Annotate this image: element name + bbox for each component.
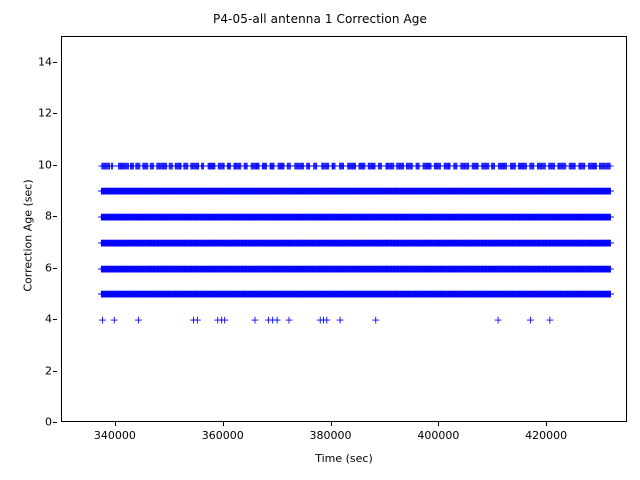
y-tick-mark (53, 113, 57, 114)
y-axis-label: Correction Age (sec) (22, 116, 35, 356)
data-point-marker: + (493, 315, 502, 326)
chart-figure: P4-05-all antenna 1 Correction Age +++++… (0, 0, 640, 480)
data-point-marker: + (134, 315, 143, 326)
x-tick-mark (115, 422, 116, 426)
y-tick-label: 14 (38, 55, 52, 68)
data-point-marker: + (606, 263, 615, 274)
y-tick-label: 8 (45, 210, 52, 223)
y-tick-mark (53, 422, 57, 423)
scatter-data-layer: ++++++++++++++++++++++++++++++++++++++++… (62, 37, 626, 421)
y-tick-mark (53, 371, 57, 372)
y-tick-mark (53, 165, 57, 166)
x-tick-mark (546, 422, 547, 426)
data-point-marker: + (272, 315, 281, 326)
x-tick-label: 420000 (525, 429, 567, 442)
data-point-marker: + (110, 315, 119, 326)
data-point-marker: + (606, 212, 615, 223)
chart-title: P4-05-all antenna 1 Correction Age (0, 12, 640, 26)
data-point-marker: + (220, 315, 229, 326)
plot-area: ++++++++++++++++++++++++++++++++++++++++… (61, 36, 627, 422)
data-point-marker: + (193, 315, 202, 326)
data-point-marker: + (606, 237, 615, 248)
y-tick-mark (53, 268, 57, 269)
y-tick-label: 10 (38, 158, 52, 171)
x-tick-mark (331, 422, 332, 426)
x-axis-label: Time (sec) (61, 452, 627, 465)
data-point-marker: + (606, 289, 615, 300)
y-tick-label: 0 (45, 416, 52, 429)
x-tick-label: 380000 (310, 429, 352, 442)
y-tick-label: 4 (45, 313, 52, 326)
y-tick-mark (53, 319, 57, 320)
data-point-marker: + (605, 160, 614, 171)
data-point-marker: + (284, 315, 293, 326)
y-tick-label: 2 (45, 364, 52, 377)
x-tick-mark (223, 422, 224, 426)
data-point-marker: + (322, 315, 331, 326)
data-point-marker: + (606, 186, 615, 197)
data-point-marker: + (526, 315, 535, 326)
data-point-marker: + (371, 315, 380, 326)
x-tick-label: 360000 (202, 429, 244, 442)
x-tick-label: 340000 (94, 429, 136, 442)
x-tick-mark (438, 422, 439, 426)
y-tick-mark (53, 62, 57, 63)
x-tick-label: 400000 (417, 429, 459, 442)
y-tick-mark (53, 216, 57, 217)
y-tick-label: 12 (38, 107, 52, 120)
data-point-marker: + (98, 315, 107, 326)
data-point-marker: + (545, 315, 554, 326)
data-point-marker: + (336, 315, 345, 326)
data-point-marker: + (250, 315, 259, 326)
y-tick-label: 6 (45, 261, 52, 274)
